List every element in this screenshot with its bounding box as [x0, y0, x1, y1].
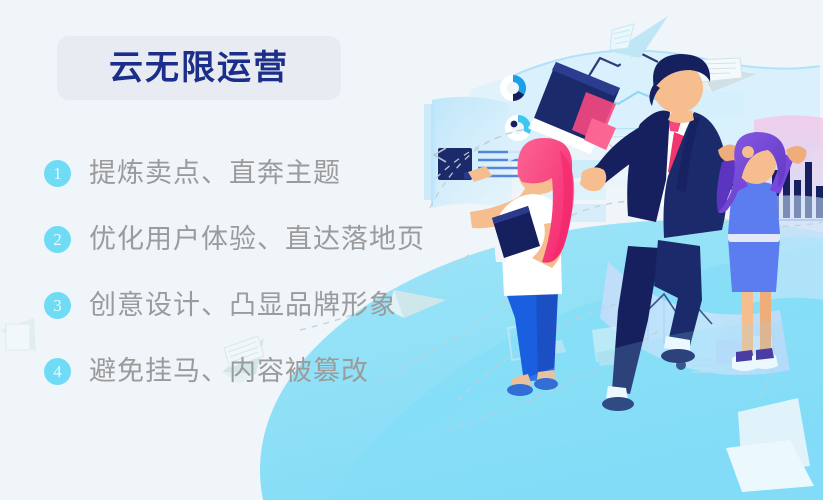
list-item: 3 创意设计、凸显品牌形象 [44, 282, 474, 328]
list-item: 4 避免挂马、内容被篡改 [44, 348, 474, 394]
list-item-label-1: 提炼卖点、直奔主题 [89, 160, 341, 187]
feature-list: 1 提炼卖点、直奔主题 2 优化用户体验、直达落地页 3 创意设计、凸显品牌形象… [44, 150, 474, 414]
bar-chart [766, 156, 823, 220]
title-chip: 云无限运营 [57, 36, 341, 100]
background-panels [470, 69, 812, 205]
bar-chart-panel [748, 115, 823, 304]
list-item-label-2: 优化用户体验、直达落地页 [89, 226, 425, 253]
list-item: 1 提炼卖点、直奔主题 [44, 150, 474, 196]
list-item: 2 优化用户体验、直达落地页 [44, 216, 474, 262]
lower-curved-screen [600, 262, 790, 375]
list-item-number-4: 4 [44, 358, 71, 385]
path-arrow-icons [434, 148, 708, 269]
paper-plane-bottom-left-icon [0, 318, 36, 352]
woman-pink-hair-tablet [464, 138, 574, 396]
falling-paper-small [592, 324, 636, 366]
list-item-label-4: 避免挂马、内容被篡改 [89, 358, 369, 385]
curved-dashboard-panel [500, 50, 820, 222]
donut-chart-2 [505, 115, 531, 141]
businessman-jumping [528, 54, 760, 411]
list-item-number-1: 1 [44, 160, 71, 187]
list-item-number-3: 3 [44, 292, 71, 319]
paper-plane-right-icon [694, 58, 756, 92]
falling-paper-sheet [726, 398, 814, 492]
list-item-number-2: 2 [44, 226, 71, 253]
list-item-label-3: 创意设计、凸显品牌形象 [89, 292, 397, 319]
paper-plane-top-icon [610, 16, 668, 66]
woman-purple-hair-reaching [717, 132, 807, 371]
line-chart [548, 52, 668, 138]
falling-paper-left [508, 322, 566, 360]
donut-chart-1 [500, 75, 526, 101]
poster-canvas: 云无限运营 1 提炼卖点、直奔主题 2 优化用户体验、直达落地页 3 创意设计、… [0, 0, 823, 500]
page-title: 云无限运营 [109, 51, 289, 85]
